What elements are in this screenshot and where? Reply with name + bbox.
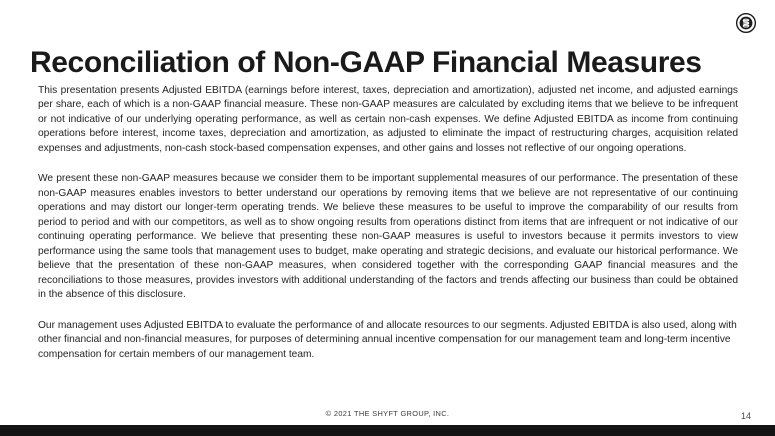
- shyft-circle-s-logo-icon: [735, 12, 757, 34]
- paragraph-2: We present these non-GAAP measures becau…: [38, 172, 738, 302]
- body-content: This presentation presents Adjusted EBIT…: [38, 84, 738, 362]
- paragraph-3: Our management uses Adjusted EBITDA to e…: [38, 319, 738, 362]
- page-number: 14: [741, 411, 751, 421]
- presentation-slide: Reconciliation of Non-GAAP Financial Mea…: [0, 0, 775, 436]
- footer-bar: [0, 425, 775, 436]
- page-title: Reconciliation of Non-GAAP Financial Mea…: [30, 46, 702, 79]
- paragraph-1: This presentation presents Adjusted EBIT…: [38, 84, 738, 156]
- footer-copyright: © 2021 THE SHYFT GROUP, INC.: [0, 409, 775, 418]
